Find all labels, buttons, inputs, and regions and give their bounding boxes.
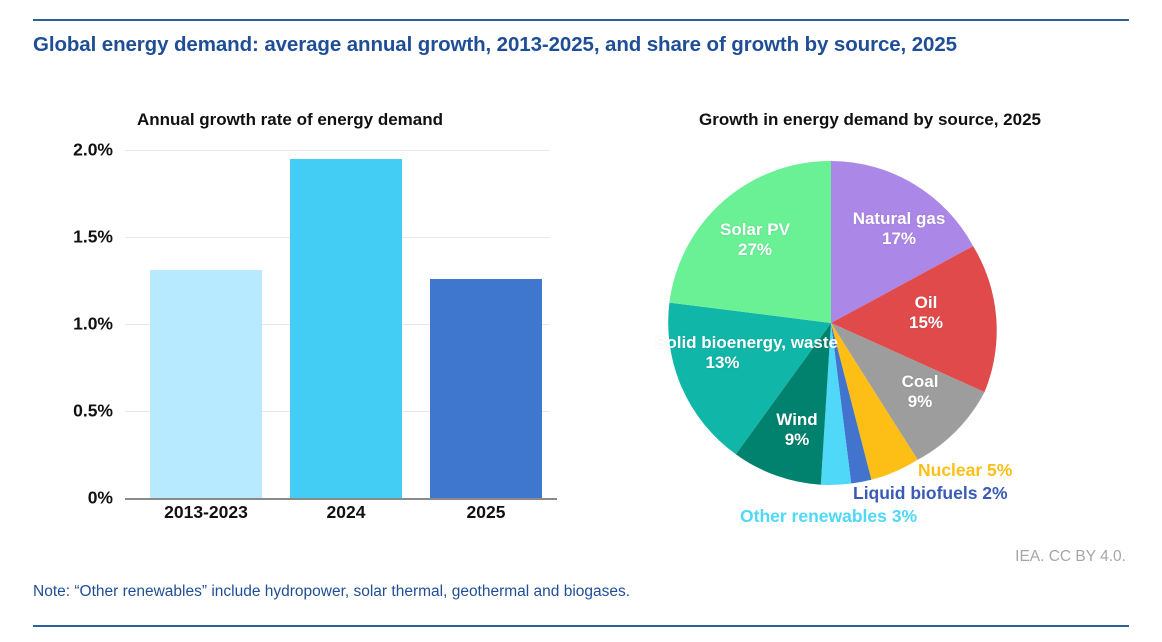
bar-2013-2023[interactable]: [150, 270, 262, 498]
footer-divider: [33, 625, 1129, 627]
x-tick-label-2013-2023: 2013-2023: [150, 502, 262, 523]
pie-label-natural-gas: Natural gas 17%: [829, 209, 969, 249]
y-tick-label: 2.0%: [73, 140, 113, 161]
bar-chart-panel: Annual growth rate of energy demand 2.0%…: [20, 110, 580, 525]
y-tick-label: 1.0%: [73, 314, 113, 335]
pie-label-oil-value: 15%: [909, 313, 943, 332]
pie-label-wind-name: Wind: [776, 410, 817, 429]
pie-label-solid-bioenergy-waste-name: Solid bioenergy, waste: [655, 333, 838, 352]
pie-label-oil: Oil 15%: [881, 293, 971, 333]
pie-label-wind-value: 9%: [785, 430, 810, 449]
page-title: Global energy demand: average annual gro…: [33, 32, 1093, 58]
attribution-text: IEA. CC BY 4.0.: [1015, 548, 1126, 566]
x-tick-label-2024: 2024: [290, 502, 402, 523]
pie-callout-liquid-biofuels: Liquid biofuels 2%: [853, 483, 1008, 504]
footnote-text: Note: “Other renewables” include hydropo…: [33, 583, 630, 601]
bar-2024[interactable]: [290, 159, 402, 498]
pie-label-solid-bioenergy-waste: Solid bioenergy, waste 13%: [655, 333, 790, 373]
x-axis-line: [125, 498, 557, 500]
pie-label-coal: Coal 9%: [875, 372, 965, 412]
pie-label-natural-gas-name: Natural gas: [853, 209, 946, 228]
pie-label-oil-name: Oil: [915, 293, 938, 312]
gridline-2: [125, 150, 550, 151]
pie-chart-svg: [600, 110, 1160, 540]
pie-label-solar-pv-name: Solar PV: [720, 220, 790, 239]
pie-label-solar-pv-value: 27%: [738, 240, 772, 259]
pie-chart-panel: Growth in energy demand by source, 2025 …: [600, 110, 1160, 540]
pie-label-coal-name: Coal: [902, 372, 939, 391]
y-tick-label: 0.5%: [73, 401, 113, 422]
y-tick-label: 0%: [88, 488, 113, 509]
pie-label-wind: Wind 9%: [752, 410, 842, 450]
bar-chart-title: Annual growth rate of energy demand: [20, 110, 560, 130]
y-tick-label: 1.5%: [73, 227, 113, 248]
bar-chart-plot-area: 2.0% 1.5% 1.0% 0.5% 0% 2013-2023 2024 20…: [125, 150, 550, 498]
bar-2025[interactable]: [430, 279, 542, 498]
pie-label-natural-gas-value: 17%: [882, 229, 916, 248]
pie-label-solid-bioenergy-waste-value: 13%: [705, 353, 739, 372]
pie-label-coal-value: 9%: [908, 392, 933, 411]
pie-callout-other-renewables: Other renewables 3%: [740, 506, 917, 527]
header-divider: [33, 19, 1129, 21]
pie-label-solar-pv: Solar PV 27%: [695, 220, 815, 260]
pie-callout-nuclear: Nuclear 5%: [918, 460, 1012, 481]
x-tick-label-2025: 2025: [430, 502, 542, 523]
